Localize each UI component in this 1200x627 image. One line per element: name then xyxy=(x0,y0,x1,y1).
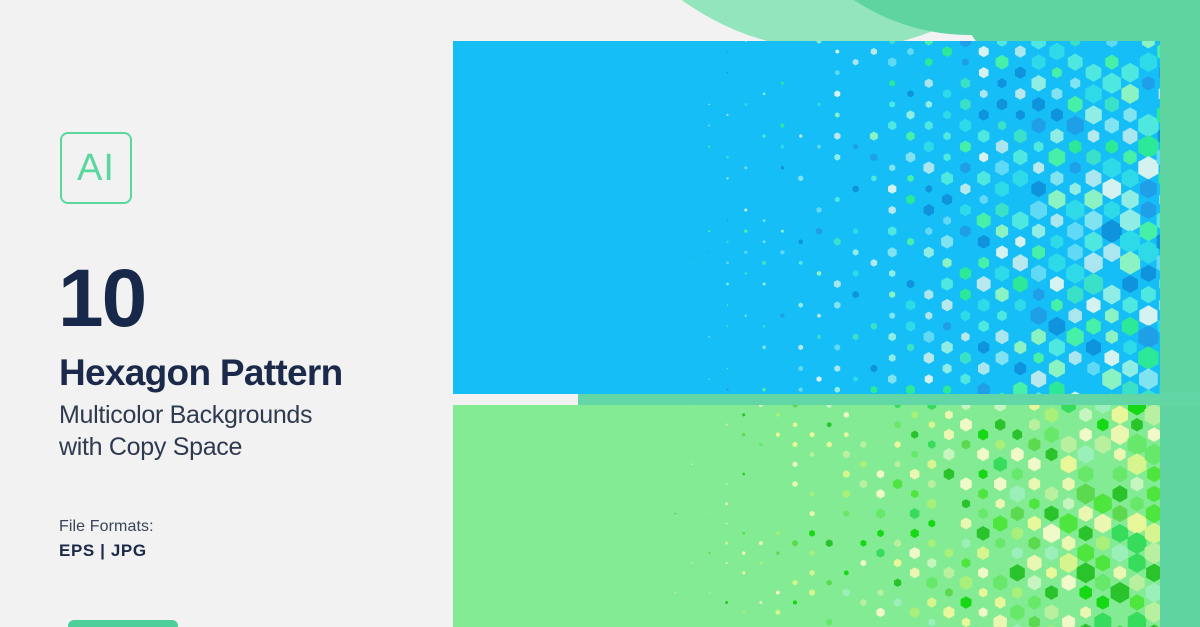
page-subtitle: Multicolor Backgrounds with Copy Space xyxy=(59,400,312,464)
adobe-illustrator-badge-icon: AI xyxy=(60,132,132,204)
page-subtitle-line-1: Multicolor Backgrounds xyxy=(59,400,312,432)
green-background-field xyxy=(1160,0,1200,627)
cta-button[interactable] xyxy=(68,620,178,627)
file-formats-label: File Formats: xyxy=(59,518,154,536)
blue-hexagon-svg xyxy=(453,41,1160,394)
ai-badge-label: AI xyxy=(77,149,115,187)
page-title: Hexagon Pattern xyxy=(59,354,343,391)
page-subtitle-line-2: with Copy Space xyxy=(59,432,312,464)
green-divider-band xyxy=(578,392,1200,406)
hexagon-pattern-green-preview xyxy=(453,405,1160,627)
green-hexagon-svg xyxy=(453,405,1160,627)
file-formats-value: EPS | JPG xyxy=(59,541,147,561)
hexagon-pattern-blue-preview xyxy=(453,41,1160,394)
info-panel: AI 10 Hexagon Pattern Multicolor Backgro… xyxy=(0,0,453,627)
poster-canvas: AI 10 Hexagon Pattern Multicolor Backgro… xyxy=(0,0,1200,627)
item-count: 10 xyxy=(58,258,145,340)
